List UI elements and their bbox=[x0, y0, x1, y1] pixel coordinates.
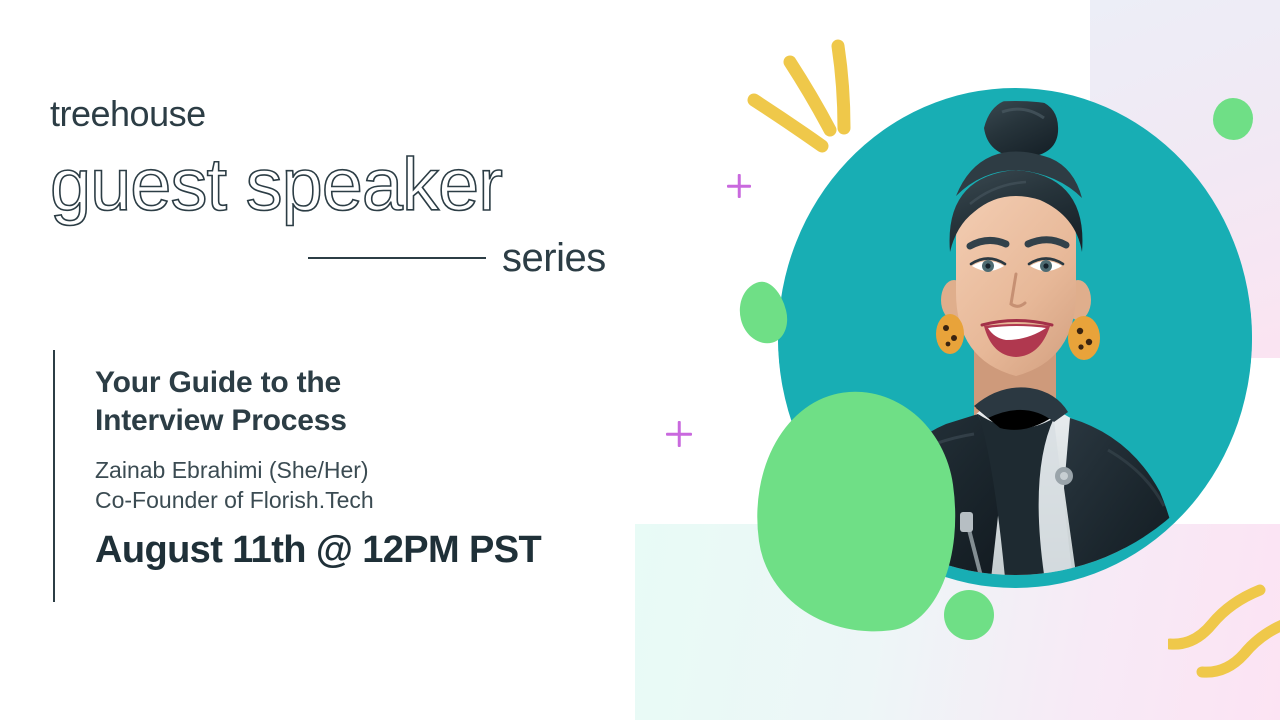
promo-slide: treehouse guest speaker series Your Guid… bbox=[0, 0, 1280, 720]
event-details: Your Guide to the Interview Process Zain… bbox=[53, 350, 541, 602]
speaker-portrait bbox=[778, 88, 1252, 588]
speaker-role: Co-Founder of Florish.Tech bbox=[95, 485, 541, 515]
plus-mark-top-icon bbox=[727, 174, 751, 198]
talk-title-line-2: Interview Process bbox=[95, 404, 347, 437]
headline-guest-speaker: guest speaker bbox=[50, 146, 650, 224]
green-circle-top-right bbox=[1213, 98, 1253, 140]
event-datetime: August 11th @ 12PM PST bbox=[95, 530, 541, 572]
series-row: series bbox=[50, 238, 650, 278]
title-block: treehouse guest speaker series bbox=[50, 96, 650, 278]
green-circle-bottom bbox=[944, 590, 994, 640]
series-label: series bbox=[502, 238, 606, 278]
speaker-name: Zainab Ebrahimi (She/Her) bbox=[95, 455, 541, 485]
talk-title-line-1: Your Guide to the bbox=[95, 366, 341, 399]
yellow-squiggle-strokes-icon bbox=[1168, 576, 1280, 680]
series-divider bbox=[308, 257, 486, 259]
talk-title: Your Guide to the Interview Process bbox=[95, 364, 541, 441]
plus-mark-middle-icon bbox=[666, 421, 692, 447]
brand-name: treehouse bbox=[50, 96, 650, 132]
